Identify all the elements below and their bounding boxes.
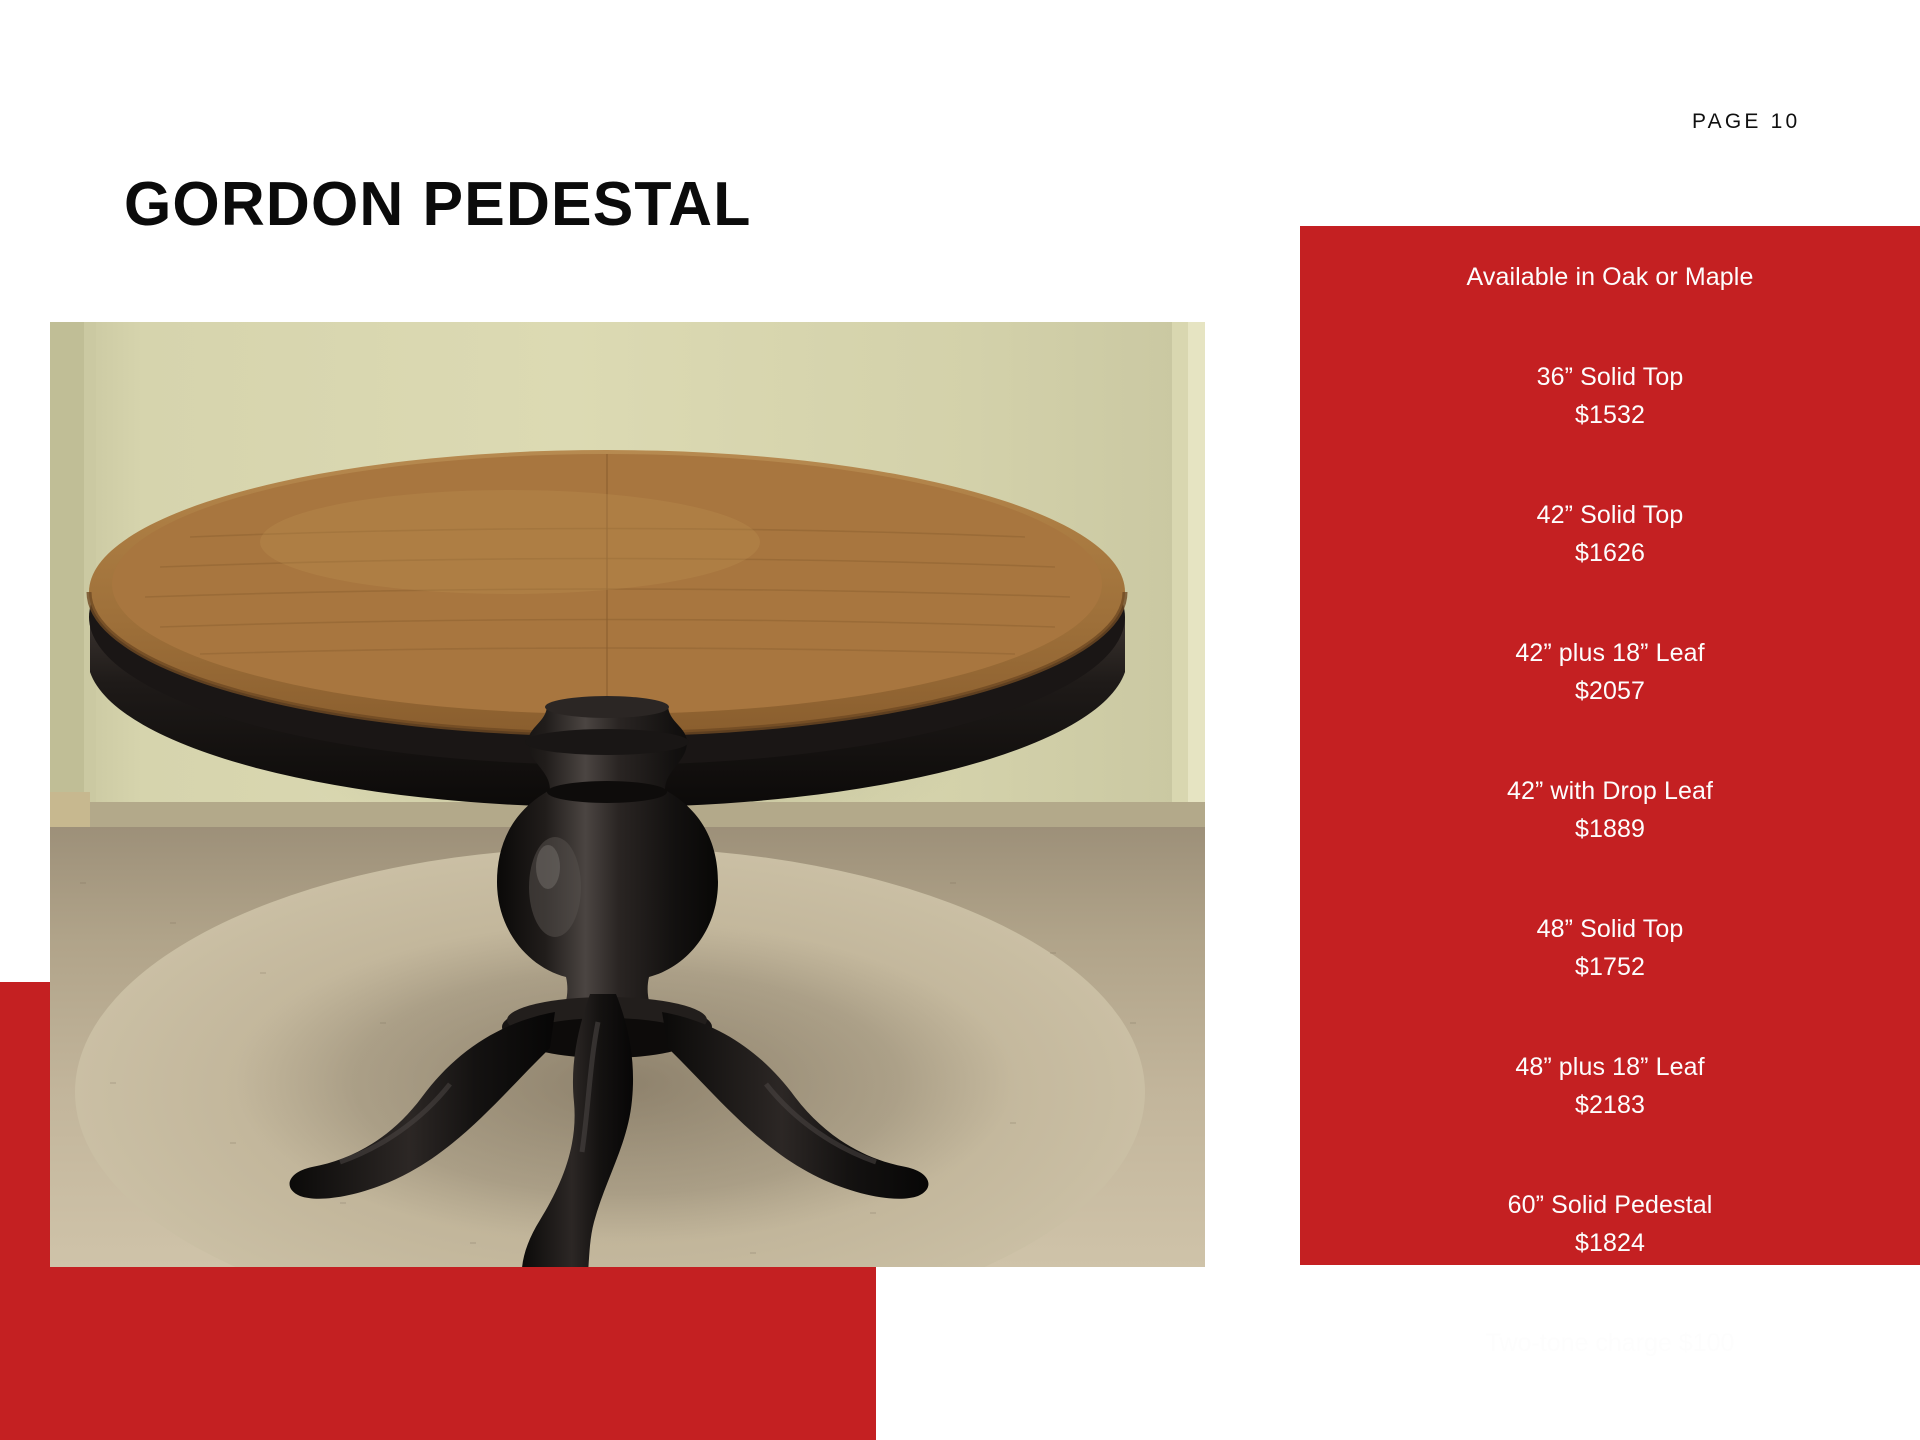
price-item-label: 48” plus 18” Leaf xyxy=(1300,1048,1920,1086)
price-item-label: 60” Solid Pedestal xyxy=(1300,1186,1920,1224)
price-item-label: 42” with Drop Leaf xyxy=(1300,772,1920,810)
price-item-value: $1752 xyxy=(1300,948,1920,986)
price-item: 48” plus 18” Leaf $2183 xyxy=(1300,1048,1920,1124)
page-number: PAGE 10 xyxy=(1692,110,1800,134)
price-item: 42” Solid Top $1626 xyxy=(1300,496,1920,572)
price-item-label: 36” Solid Top xyxy=(1300,358,1920,396)
price-panel-heading: Available in Oak or Maple xyxy=(1300,258,1920,296)
price-item: 42” with Drop Leaf $1889 xyxy=(1300,772,1920,848)
product-photo xyxy=(50,322,1205,1267)
price-item-value: $2183 xyxy=(1300,1086,1920,1124)
price-item: 42” plus 18” Leaf $2057 xyxy=(1300,634,1920,710)
price-item-label: 48” Solid Top xyxy=(1300,910,1920,948)
price-item-value: $2057 xyxy=(1300,672,1920,710)
price-item-value: $1889 xyxy=(1300,810,1920,848)
price-item-label: 42” Solid Top xyxy=(1300,496,1920,534)
two-tone-charge-note: Two-tone charge $100 xyxy=(1300,1324,1920,1362)
price-item-value: $1824 xyxy=(1300,1224,1920,1262)
page-title: GORDON PEDESTAL xyxy=(124,174,752,236)
price-panel: Available in Oak or Maple 36” Solid Top … xyxy=(1300,226,1920,1265)
price-item: 48” Solid Top $1752 xyxy=(1300,910,1920,986)
price-item: 36” Solid Top $1532 xyxy=(1300,358,1920,434)
price-item-value: $1532 xyxy=(1300,396,1920,434)
price-item: 60” Solid Pedestal $1824 xyxy=(1300,1186,1920,1262)
price-item-label: 42” plus 18” Leaf xyxy=(1300,634,1920,672)
product-photo-illustration xyxy=(50,322,1205,1267)
price-item-value: $1626 xyxy=(1300,534,1920,572)
